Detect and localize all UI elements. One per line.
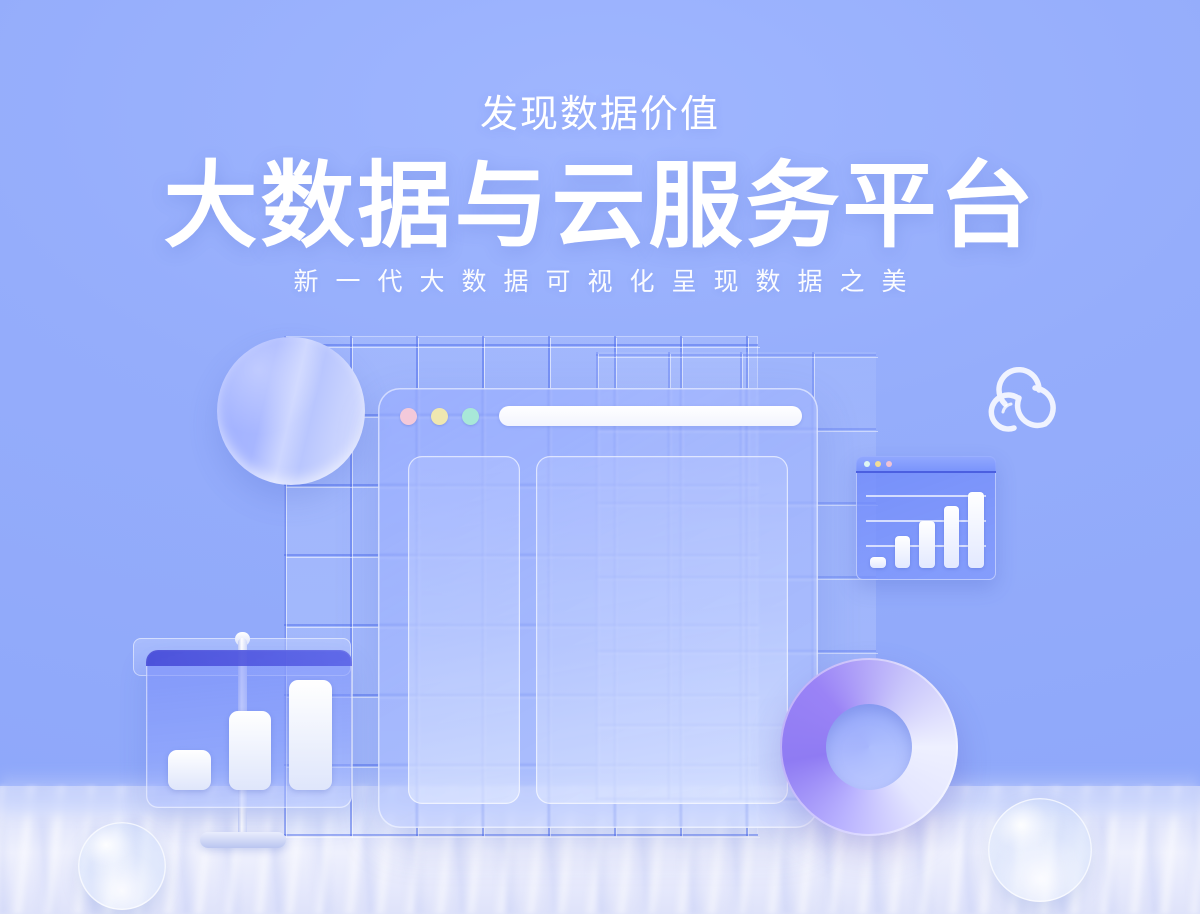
browser-titlebar <box>378 388 818 444</box>
mini-bar-chart <box>856 473 996 580</box>
mini-bar-series <box>870 489 984 568</box>
minimize-icon[interactable] <box>431 408 448 425</box>
bar <box>895 536 911 568</box>
glass-disc <box>217 337 365 485</box>
close-icon[interactable] <box>400 408 417 425</box>
maximize-icon[interactable] <box>886 461 892 467</box>
bar <box>968 492 984 568</box>
bar <box>870 557 886 568</box>
page-title: 大数据与云服务平台 <box>0 156 1200 256</box>
browser-window-mockup[interactable] <box>378 388 818 828</box>
sidebar-pane[interactable] <box>408 456 520 804</box>
minimize-icon[interactable] <box>875 461 881 467</box>
content-pane[interactable] <box>536 456 788 804</box>
hero-text-block: 发现数据价值 大数据与云服务平台 新一代大数据可视化呈现数据之美 <box>0 0 1200 295</box>
glass-bubble-left <box>78 822 166 910</box>
stand-base <box>200 832 286 848</box>
mini-window-titlebar <box>856 456 996 473</box>
mini-chart-window[interactable] <box>856 456 996 580</box>
board-header <box>146 650 352 666</box>
glass-bubble-right <box>988 798 1092 902</box>
address-bar-input[interactable] <box>499 406 802 426</box>
maximize-icon[interactable] <box>462 408 479 425</box>
glass-donut <box>780 658 958 836</box>
board-bar-series <box>168 680 332 790</box>
bar <box>944 506 960 568</box>
bar <box>168 750 211 790</box>
bar <box>289 680 332 790</box>
bar-chart-board[interactable] <box>146 650 352 808</box>
subtitle-text: 新一代大数据可视化呈现数据之美 <box>0 270 1200 295</box>
bar <box>919 521 935 568</box>
cloud-icon <box>978 362 1070 438</box>
hero-banner: 发现数据价值 大数据与云服务平台 新一代大数据可视化呈现数据之美 <box>0 0 1200 914</box>
close-icon[interactable] <box>864 461 870 467</box>
eyebrow-text: 发现数据价值 <box>0 96 1200 134</box>
bar <box>229 711 272 790</box>
